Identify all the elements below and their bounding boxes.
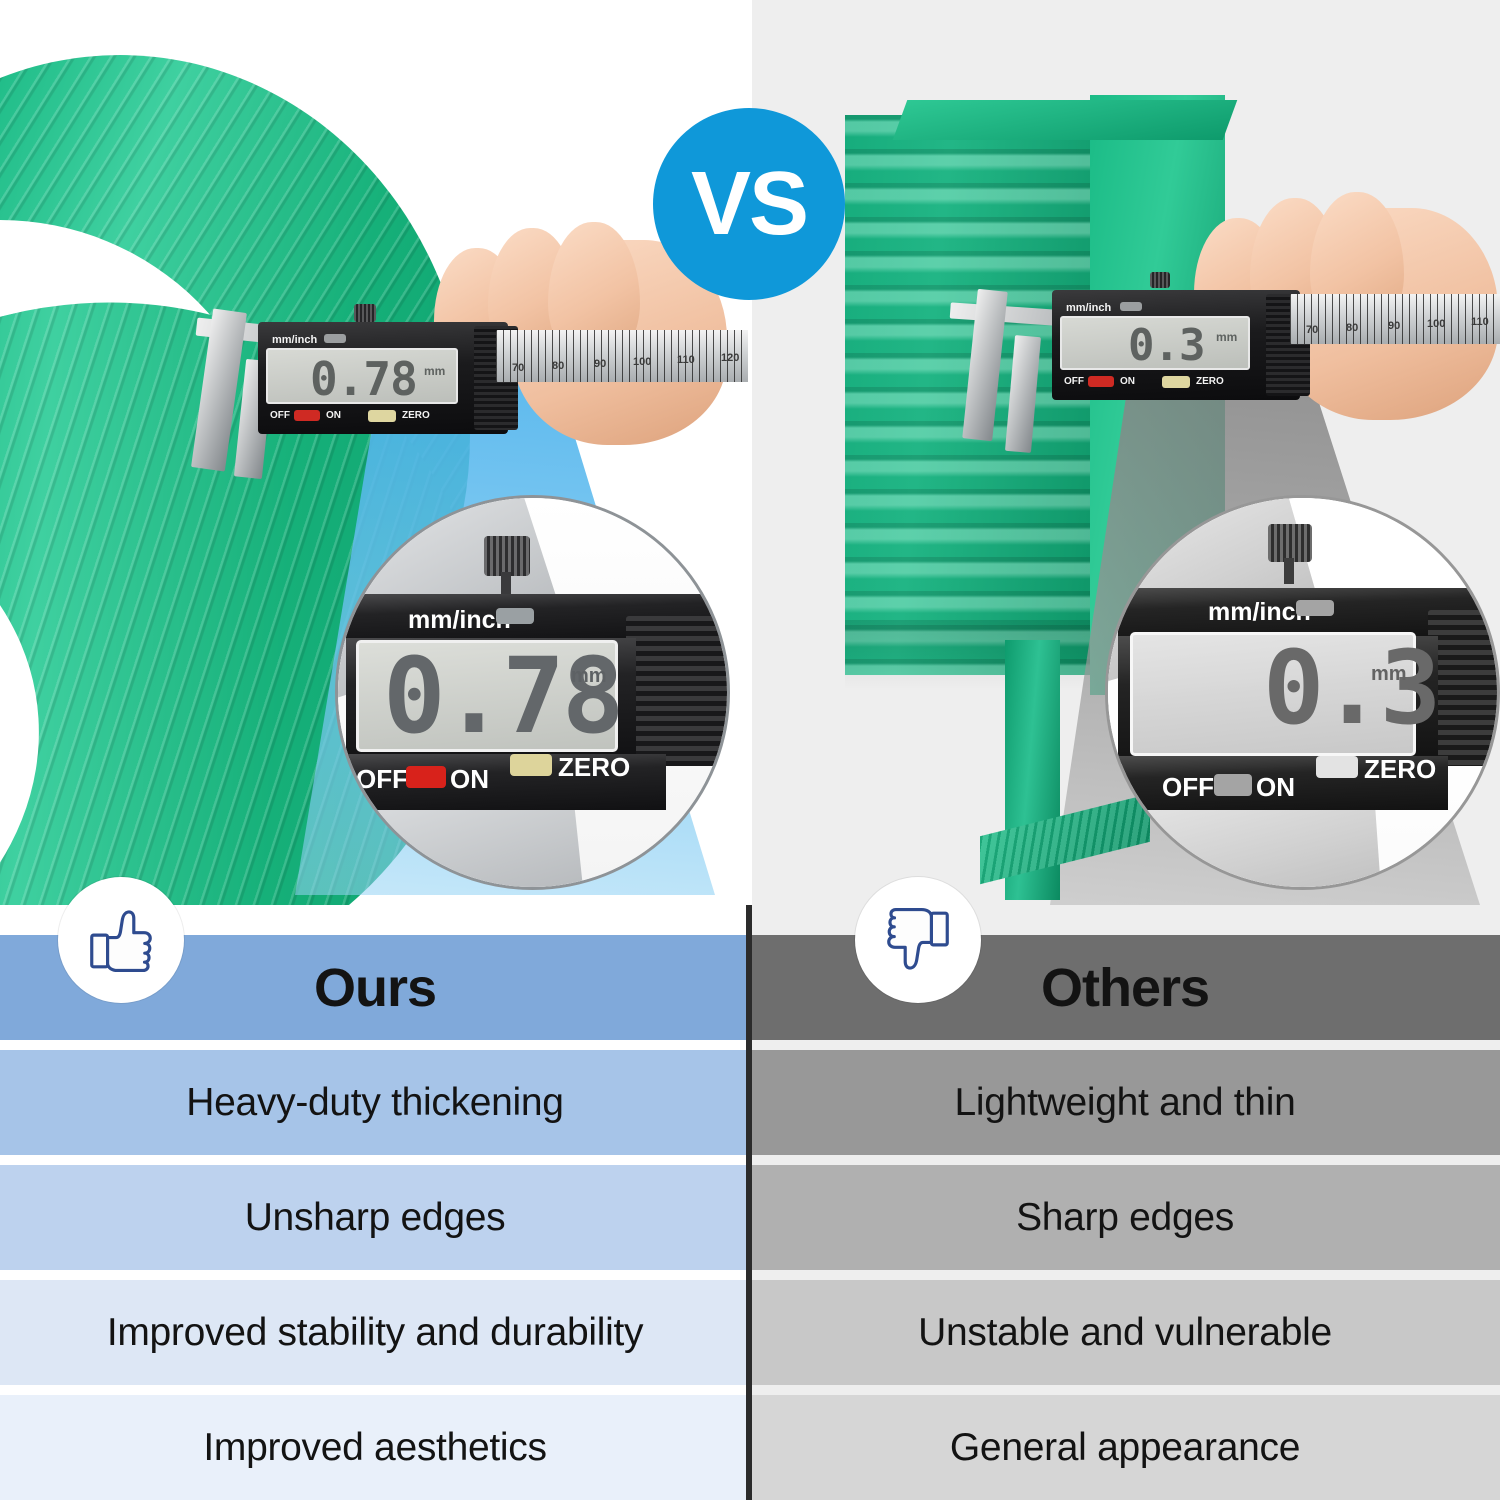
- table-row: Lightweight and thin: [750, 1050, 1500, 1155]
- table-row: Improved aesthetics: [0, 1395, 750, 1500]
- caliper-zero-button-right: [1162, 376, 1190, 388]
- row-text-ours-1: Heavy-duty thickening: [186, 1081, 563, 1125]
- caliper-zero-button-left-mag: [510, 754, 552, 776]
- caliper-on-label-left-mag: ON: [450, 764, 489, 795]
- table-row: Improved stability and durability: [0, 1280, 750, 1385]
- caliper-zero-label-left: ZERO: [402, 410, 430, 421]
- thumbs-up-icon: [58, 877, 184, 1003]
- caliper-zero-label-right-mag: ZERO: [1364, 754, 1436, 785]
- caliper-on-label-right: ON: [1120, 376, 1135, 387]
- row-text-ours-3: Improved stability and durability: [107, 1311, 643, 1355]
- row-text-ours-2: Unsharp edges: [245, 1196, 506, 1240]
- header-title-others: Others: [1041, 957, 1209, 1019]
- digital-caliper-left: 70 80 90 100 110 120 mm/inch 0.78 mm OFF…: [196, 300, 626, 500]
- caliper-unit-mode-label-right: mm/inch: [1066, 302, 1111, 314]
- caliper-reading-right: 0.3: [1128, 320, 1204, 371]
- caliper-on-label-right-mag: ON: [1256, 772, 1295, 803]
- table-row: Heavy-duty thickening: [0, 1050, 750, 1155]
- table-row: Unsharp edges: [0, 1165, 750, 1270]
- caliper-unit-left: mm: [424, 364, 445, 378]
- caliper-off-label-right-mag: OFF: [1162, 772, 1214, 803]
- caliper-zero-button-left: [368, 410, 396, 422]
- caliper-power-switch-left-mag: [406, 766, 446, 788]
- digital-caliper-right: 70 80 90 100 110 120 mm/inch 0.3 mm OFF …: [990, 270, 1420, 470]
- comparison-column-others: Others Lightweight and thin Sharp edges …: [750, 905, 1500, 1500]
- caliper-zero-label-right: ZERO: [1196, 376, 1224, 387]
- vs-label: VS: [691, 159, 807, 249]
- caliper-unit-right: mm: [1216, 330, 1237, 344]
- caliper-zero-button-right-mag: [1316, 756, 1358, 778]
- vs-badge: VS: [653, 108, 845, 300]
- magnifier-circle-left: mm/inch 0.78 mm OFF ON ZERO: [335, 495, 730, 890]
- table-row: Unstable and vulnerable: [750, 1280, 1500, 1385]
- row-text-others-2: Sharp edges: [1016, 1196, 1234, 1240]
- caliper-power-switch-right-mag: [1214, 774, 1252, 796]
- caliper-unit-mode-label-left: mm/inch: [272, 334, 317, 346]
- header-title-ours: Ours: [314, 957, 436, 1019]
- caliper-unit-right-mag: mm: [1371, 663, 1407, 686]
- caliper-zero-label-left-mag: ZERO: [558, 752, 630, 783]
- table-row: General appearance: [750, 1395, 1500, 1500]
- table-center-divider: [746, 905, 752, 1500]
- caliper-reading-left-mag: 0.78: [383, 635, 621, 757]
- comparison-column-ours: Ours Heavy-duty thickening Unsharp edges…: [0, 905, 750, 1500]
- caliper-reading-right-mag: 0.3: [1263, 629, 1438, 748]
- caliper-unit-left-mag: mm: [571, 665, 607, 688]
- magnifier-circle-right: mm/inch 0.3 mm OFF ON ZERO: [1105, 495, 1500, 890]
- row-text-others-3: Unstable and vulnerable: [918, 1311, 1332, 1355]
- caliper-thumb-wheel-right-mag: [1268, 524, 1312, 562]
- comparison-infographic: 70 80 90 100 110 120 mm/inch 0.78 mm OFF…: [0, 0, 1500, 1500]
- caliper-reading-left: 0.78: [310, 352, 417, 406]
- caliper-power-switch-left: [294, 410, 320, 421]
- photo-band: 70 80 90 100 110 120 mm/inch 0.78 mm OFF…: [0, 0, 1500, 905]
- caliper-off-label-left: OFF: [270, 410, 290, 421]
- caliper-thumb-wheel-left-mag: [484, 536, 530, 576]
- table-row: Sharp edges: [750, 1165, 1500, 1270]
- comparison-table: Ours Heavy-duty thickening Unsharp edges…: [0, 905, 1500, 1500]
- thumbs-down-icon: [855, 877, 981, 1003]
- caliper-on-label-left: ON: [326, 410, 341, 421]
- bed-top-rail: [893, 100, 1238, 140]
- caliper-power-switch-right: [1088, 376, 1114, 387]
- row-text-ours-4: Improved aesthetics: [203, 1426, 546, 1470]
- caliper-off-label-left-mag: OFF: [356, 764, 408, 795]
- caliper-off-label-right: OFF: [1064, 376, 1084, 387]
- row-text-others-4: General appearance: [950, 1426, 1300, 1470]
- row-text-others-1: Lightweight and thin: [955, 1081, 1296, 1125]
